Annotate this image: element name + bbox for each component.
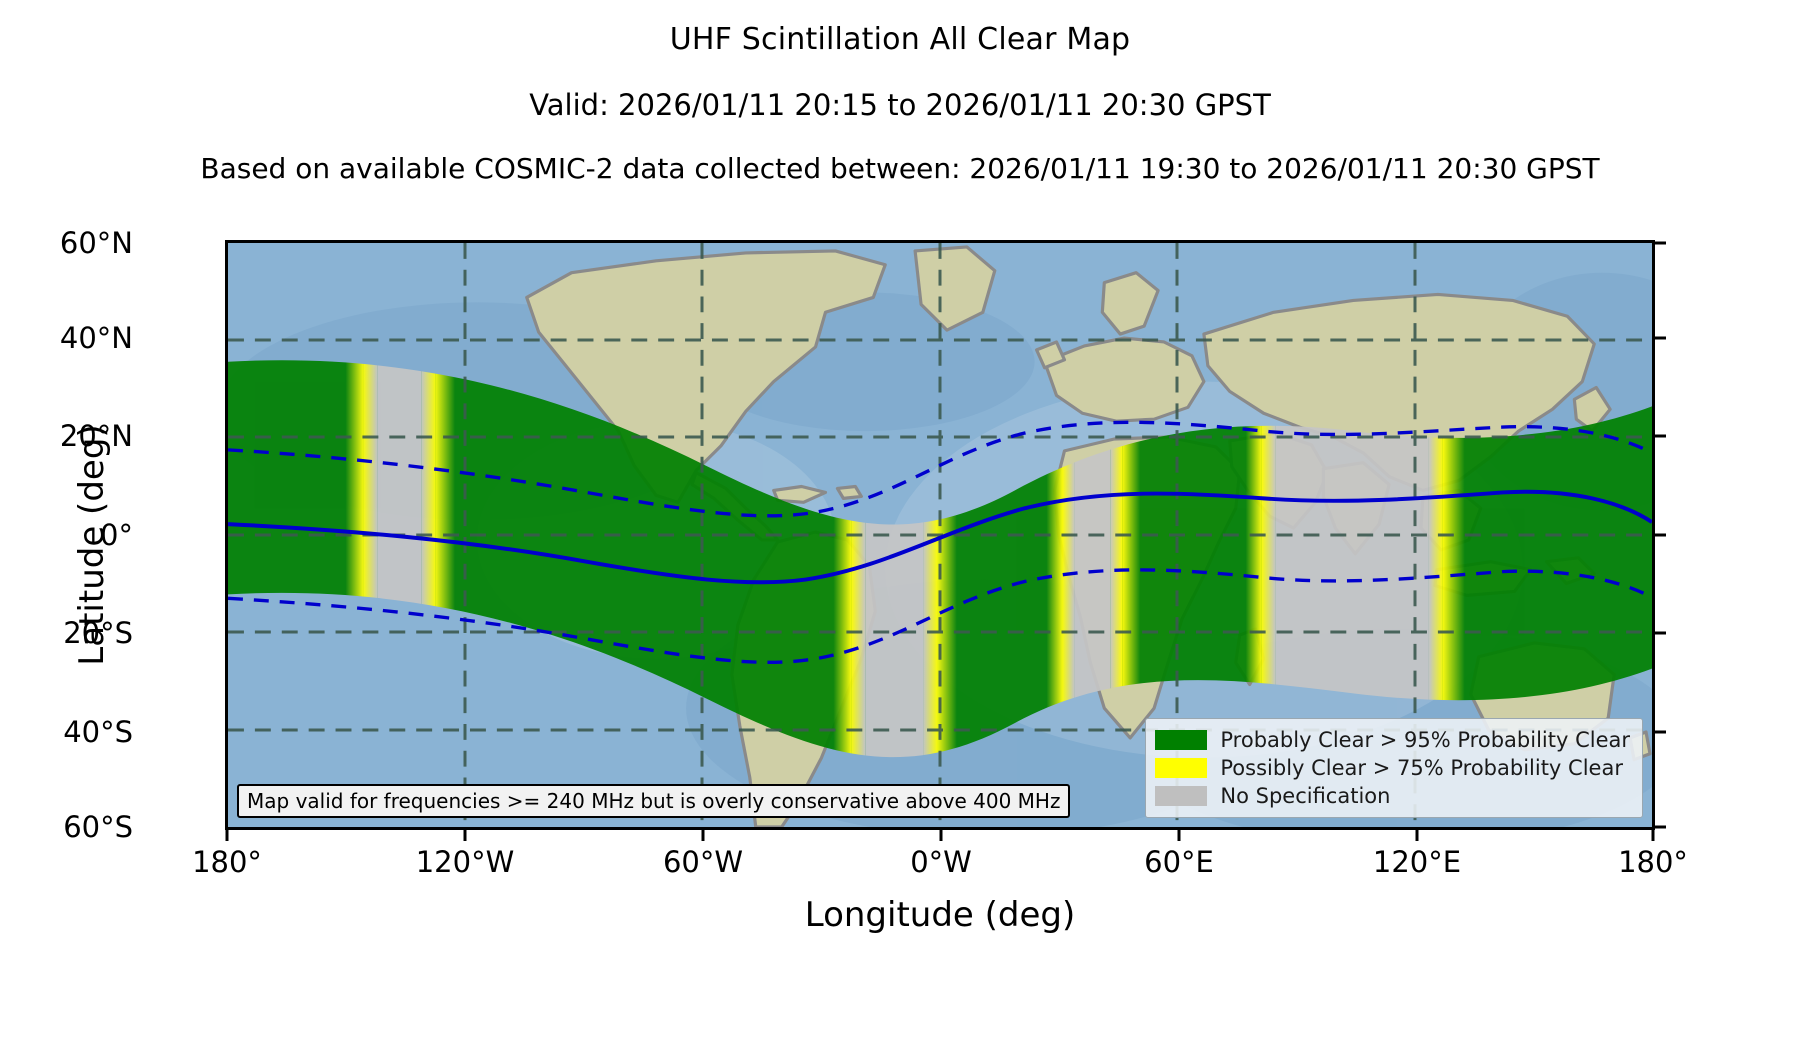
legend[interactable]: Probably Clear > 95% Probability Clear P… bbox=[1145, 718, 1643, 818]
y-tick-label: 0° bbox=[0, 518, 133, 552]
y-tick-label: 40°S bbox=[0, 715, 133, 749]
x-axis-title: Longitude (deg) bbox=[225, 895, 1655, 935]
data-basis-subtitle: Based on available COSMIC-2 data collect… bbox=[0, 152, 1800, 185]
legend-label-probably-clear: Probably Clear > 95% Probability Clear bbox=[1220, 728, 1630, 752]
validity-subtitle: Valid: 2026/01/11 20:15 to 2026/01/11 20… bbox=[0, 88, 1800, 122]
legend-item: Possibly Clear > 75% Probability Clear bbox=[1155, 754, 1630, 782]
y-tick-label: 40°N bbox=[0, 321, 133, 355]
x-tick-label: 120°W bbox=[416, 845, 515, 879]
legend-swatch-no-specification bbox=[1155, 786, 1207, 806]
y-tick-label: 60°N bbox=[0, 226, 133, 260]
legend-item: No Specification bbox=[1155, 782, 1630, 810]
map-plot-area[interactable]: Probably Clear > 95% Probability Clear P… bbox=[225, 240, 1655, 830]
y-tick-label: 20°N bbox=[0, 419, 133, 453]
legend-swatch-probably-clear bbox=[1155, 730, 1207, 750]
x-tick-label: 120°E bbox=[1373, 845, 1461, 879]
x-tick-label: 60°E bbox=[1144, 845, 1214, 879]
y-tick-label: 20°S bbox=[0, 616, 133, 650]
frequency-note: Map valid for frequencies >= 240 MHz but… bbox=[237, 784, 1070, 818]
legend-label-possibly-clear: Possibly Clear > 75% Probability Clear bbox=[1220, 756, 1623, 780]
y-tick-label: 60°S bbox=[0, 810, 133, 844]
x-tick-label: 180° bbox=[1618, 845, 1688, 879]
legend-swatch-possibly-clear bbox=[1155, 758, 1207, 778]
title-block: UHF Scintillation All Clear Map Valid: 2… bbox=[0, 0, 1800, 185]
y-axis-title: Latitude (deg) bbox=[72, 235, 112, 855]
x-tick-label: 180° bbox=[192, 845, 262, 879]
legend-item: Probably Clear > 95% Probability Clear bbox=[1155, 726, 1630, 754]
x-tick-label: 0°W bbox=[910, 845, 972, 879]
page-title: UHF Scintillation All Clear Map bbox=[0, 22, 1800, 57]
x-tick-label: 60°W bbox=[663, 845, 743, 879]
legend-label-no-specification: No Specification bbox=[1220, 784, 1390, 808]
